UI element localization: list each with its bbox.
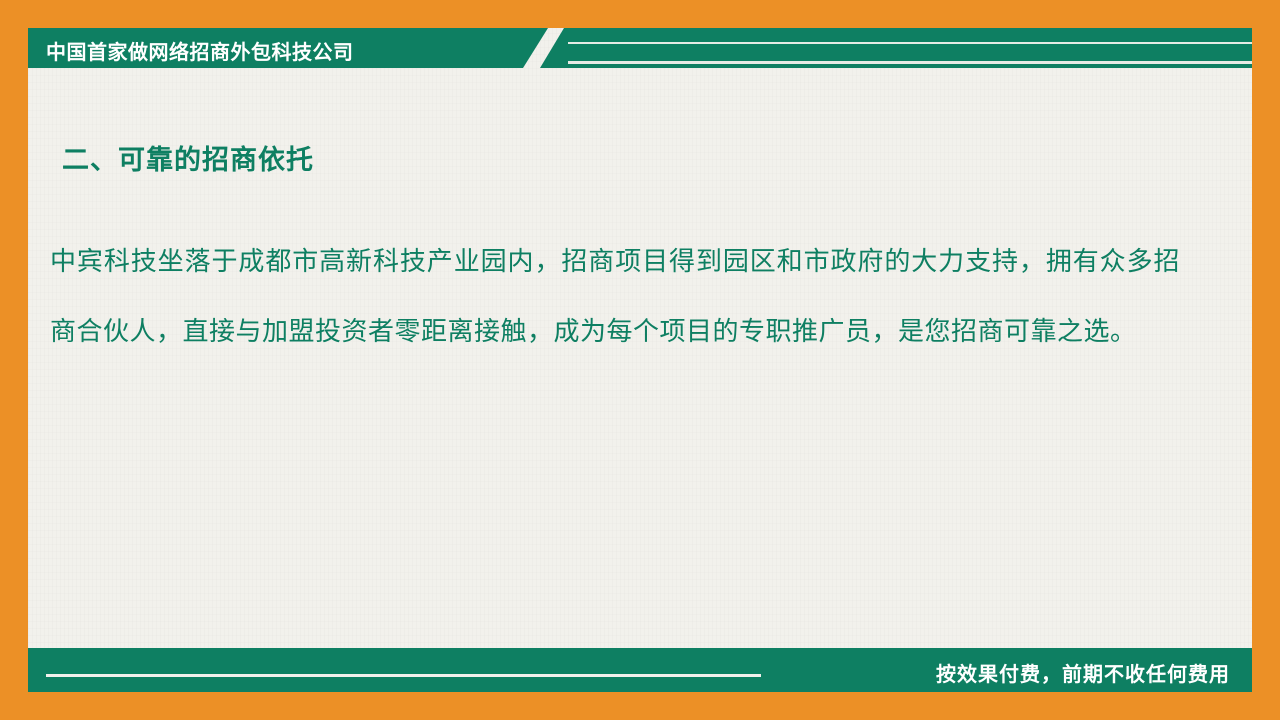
footer-divider-line — [46, 674, 761, 677]
slide: 中国首家做网络招商外包科技公司 二、可靠的招商依托 中宾科技坐落于成都市高新科技… — [0, 0, 1280, 720]
slide-header: 中国首家做网络招商外包科技公司 — [28, 28, 1252, 68]
slide-footer: 按效果付费，前期不收任何费用 — [28, 648, 1252, 692]
footer-left-bar — [28, 648, 808, 692]
header-divider-line-bottom — [568, 61, 1252, 64]
section-title: 二、可靠的招商依托 — [62, 138, 314, 177]
body-paragraph: 中宾科技坐落于成都市高新科技产业园内，招商项目得到园区和市政府的大力支持，拥有众… — [50, 228, 1180, 367]
header-title: 中国首家做网络招商外包科技公司 — [46, 36, 354, 65]
footer-tagline: 按效果付费，前期不收任何费用 — [936, 658, 1230, 687]
header-divider-line-top — [568, 42, 1252, 44]
